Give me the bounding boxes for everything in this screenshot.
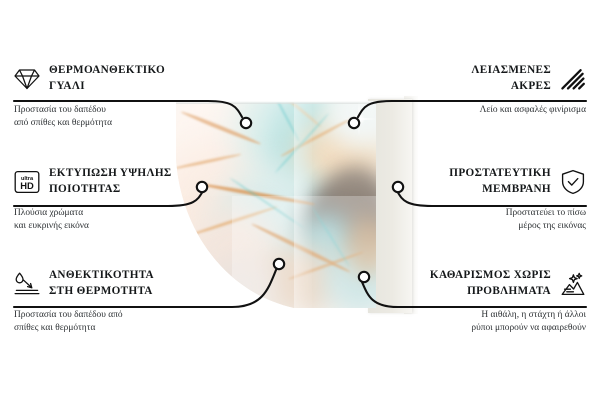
feature-header: ΘΕΡΜΟΑΝΘΕΚΤΙΚΟ ΓΥΑΛΙ	[14, 63, 224, 95]
shield-check-icon	[560, 169, 586, 195]
feature-subtitle: Προστατεύει το πίσω μέρος της εικόνας	[376, 207, 586, 234]
feature-title: ΚΑΘΑΡΙΣΜΟΣ ΧΩΡΙΣ ΠΡΟΒΛΗΜΑΤΑ	[430, 268, 551, 300]
feature-heat-resistance: ΑΝΘΕΚΤΙΚΟΤΗΤΑ ΣΤΗ ΘΕΡΜΟΤΗΤΑ Προστασία το…	[14, 268, 224, 336]
connector-dot-smoothed-edges	[349, 118, 359, 128]
feature-title: ΑΝΘΕΚΤΙΚΟΤΗΤΑ ΣΤΗ ΘΕΡΜΟΤΗΤΑ	[49, 268, 154, 300]
connector-dot-easy-cleaning	[359, 272, 369, 282]
feature-title: ΘΕΡΜΟΑΝΘΕΚΤΙΚΟ ΓΥΑΛΙ	[49, 63, 165, 95]
connector-dot-heat-resistant-glass	[241, 118, 251, 128]
feature-header: ΠΡΟΣΤΑΤΕΥΤΙΚΗ ΜΕΜΒΡΑΝΗ	[376, 166, 586, 198]
hatched-triangle-icon	[560, 66, 586, 92]
feature-easy-cleaning: ΚΑΘΑΡΙΣΜΟΣ ΧΩΡΙΣ ΠΡΟΒΛΗΜΑΤΑ Η αιθάλη, η …	[376, 268, 586, 336]
feature-header: ΑΝΘΕΚΤΙΚΟΤΗΤΑ ΣΤΗ ΘΕΡΜΟΤΗΤΑ	[14, 268, 224, 300]
feature-protective-membrane: ΠΡΟΣΤΑΤΕΥΤΙΚΗ ΜΕΜΒΡΑΝΗ Προστατεύει το πί…	[376, 166, 586, 234]
svg-text:HD: HD	[20, 180, 34, 191]
feature-subtitle: Λείο και ασφαλές φινίρισμα	[376, 104, 586, 118]
feature-header: ΛΕΙΑΣΜΕΝΕΣ ΑΚΡΕΣ	[376, 63, 586, 95]
feature-title: ΛΕΙΑΣΜΕΝΕΣ ΑΚΡΕΣ	[471, 63, 551, 95]
flame-on-surface-icon	[14, 271, 40, 297]
feature-smoothed-edges: ΛΕΙΑΣΜΕΝΕΣ ΑΚΡΕΣ Λείο και ασφαλές φινίρι…	[376, 63, 586, 117]
feature-subtitle: Η αιθάλη, η στάχτη ή άλλοι ρύποι μπορούν…	[376, 309, 586, 336]
sparkle-clean-icon	[560, 271, 586, 297]
feature-header: ΚΑΘΑΡΙΣΜΟΣ ΧΩΡΙΣ ΠΡΟΒΛΗΜΑΤΑ	[376, 268, 586, 300]
feature-title: ΕΚΤΥΠΩΣΗ ΥΨΗΛΗΣ ΠΟΙΟΤΗΤΑΣ	[49, 166, 172, 198]
ultra-hd-icon: ultra HD	[14, 169, 40, 195]
diamond-icon	[14, 66, 40, 92]
feature-subtitle: Προστασία του δαπέδου από σπίθες και θερ…	[14, 104, 224, 131]
infographic-canvas: ΘΕΡΜΟΑΝΘΕΚΤΙΚΟ ΓΥΑΛΙ Προστασία του δαπέδ…	[0, 0, 600, 400]
feature-high-quality-print: ultra HD ΕΚΤΥΠΩΣΗ ΥΨΗΛΗΣ ΠΟΙΟΤΗΤΑΣ Πλούσ…	[14, 166, 224, 234]
feature-title: ΠΡΟΣΤΑΤΕΥΤΙΚΗ ΜΕΜΒΡΑΝΗ	[449, 166, 551, 198]
feature-header: ultra HD ΕΚΤΥΠΩΣΗ ΥΨΗΛΗΣ ΠΟΙΟΤΗΤΑΣ	[14, 166, 224, 198]
feature-subtitle: Πλούσια χρώματα και ευκρινής εικόνα	[14, 207, 224, 234]
feature-heat-resistant-glass: ΘΕΡΜΟΑΝΘΕΚΤΙΚΟ ΓΥΑΛΙ Προστασία του δαπέδ…	[14, 63, 224, 131]
feature-subtitle: Προστασία του δαπέδου από σπίθες και θερ…	[14, 309, 224, 336]
connector-dot-heat-resistance	[274, 259, 284, 269]
